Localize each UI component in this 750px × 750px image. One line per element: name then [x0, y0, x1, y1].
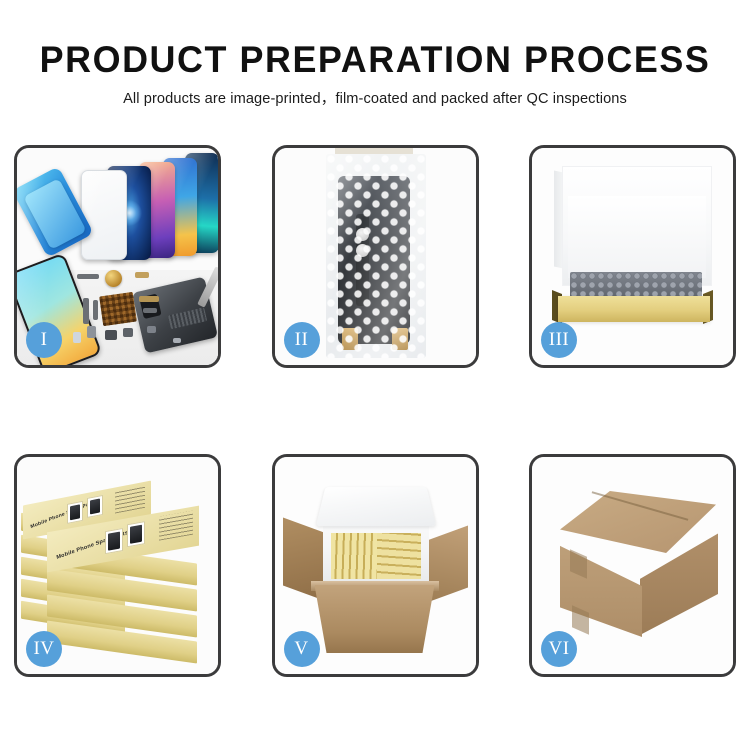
process-step-panel-3: III — [529, 145, 736, 368]
bubble-wrap-bag — [326, 154, 426, 358]
step-badge-2: II — [284, 322, 320, 358]
part-connector — [147, 326, 156, 333]
plastic-sheen — [326, 154, 426, 358]
part-chip-2 — [135, 272, 149, 278]
box-spec-text-back — [115, 486, 145, 514]
step-badge-5: V — [284, 631, 320, 667]
step-badge-4: IV — [26, 631, 62, 667]
process-step-panel-2: II — [272, 145, 479, 368]
white-foam-sheet — [568, 196, 706, 278]
box-window-front-2 — [127, 521, 145, 547]
page-header: PRODUCT PREPARATION PROCESS All products… — [0, 38, 750, 109]
screen-protector-glass — [81, 170, 127, 260]
stacked-spare-part-boxes-photo: Mobile Phone Spare Parts Mobile Phone Sp… — [17, 457, 218, 674]
part-chip-3 — [143, 308, 157, 313]
small-screws-tray — [99, 292, 137, 326]
process-step-panel-6: VI — [529, 454, 736, 677]
step-badge-1: I — [26, 322, 62, 358]
sealed-carton-photo: VI — [532, 457, 733, 674]
vibration-motor-part — [105, 270, 122, 287]
open-kraft-box-photo: III — [532, 148, 733, 365]
box-window-front-1 — [105, 528, 123, 554]
part-chip-1 — [77, 274, 99, 279]
part-sim-tray — [73, 332, 81, 343]
process-step-panel-4: Mobile Phone Spare Parts Mobile Phone Sp… — [14, 454, 221, 677]
yellow-packages-inside — [331, 533, 421, 579]
styrofoam-lid — [315, 487, 435, 526]
part-buzzer — [123, 328, 133, 337]
box-window-back-2 — [87, 495, 103, 518]
step-badge-3: III — [541, 322, 577, 358]
part-flex-cable-3 — [139, 296, 159, 302]
carton-with-styrofoam-photo: V — [275, 457, 476, 674]
product-preparation-process-page: PRODUCT PREPARATION PROCESS All products… — [0, 0, 750, 750]
part-camera-module — [87, 326, 96, 338]
part-flex-cable-1 — [83, 298, 89, 324]
box-window-back-1 — [67, 501, 83, 524]
part-flex-cable-2 — [93, 300, 98, 320]
box-spec-text-front — [159, 511, 193, 541]
page-title: PRODUCT PREPARATION PROCESS — [11, 38, 739, 82]
bubble-wrapped-screen-photo: II — [275, 148, 476, 365]
step-badge-6: VI — [541, 631, 577, 667]
part-screw-set — [173, 338, 181, 343]
carton-front-wall — [315, 585, 435, 653]
process-step-panel-5: V — [272, 454, 479, 677]
phone-screens-and-parts-photo: I — [17, 148, 218, 365]
page-subtitle: All products are image-printed，film-coat… — [0, 89, 750, 109]
process-step-panel-1: I — [14, 145, 221, 368]
part-speaker — [105, 330, 117, 340]
process-step-grid: I II — [14, 145, 736, 677]
kraft-box-front — [558, 296, 710, 322]
